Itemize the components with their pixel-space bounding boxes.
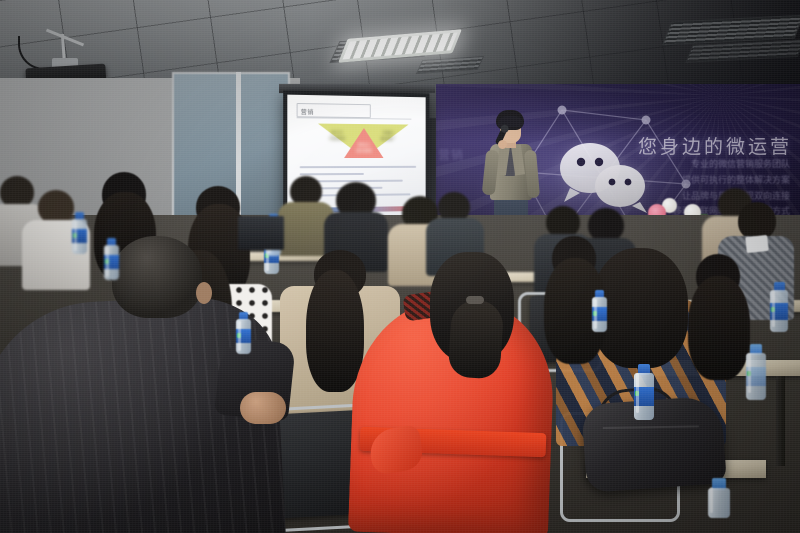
bottled-water	[634, 364, 654, 420]
presenter-hand	[498, 140, 507, 149]
desk-leg	[776, 376, 785, 466]
bottled-water	[104, 238, 119, 280]
slide-title: 营销	[301, 107, 314, 116]
triangle-label-right: 传播力 渠道推广	[376, 130, 401, 142]
hair-tie	[466, 296, 484, 304]
audience-member-head	[112, 236, 202, 318]
bottled-water	[72, 212, 87, 254]
triangle-label-left: 吸引力 内容策划	[324, 130, 350, 142]
slide-title-box: 营销	[297, 103, 371, 118]
bottled-water	[708, 478, 730, 518]
ponytail	[447, 298, 504, 379]
bottled-water	[746, 344, 766, 400]
handbag-seam	[603, 425, 699, 429]
bottled-water	[592, 290, 607, 332]
seminar-room-photo: 营销 您身边的微运营 专业的微信营销服务团队 提供可执行的整体解决方案 让品牌与…	[0, 0, 800, 533]
triangle-label-center: 转化力 成交变现	[351, 142, 377, 154]
slide-title-underline	[297, 117, 412, 119]
bottled-water	[236, 312, 251, 354]
computer-monitor	[238, 216, 284, 250]
leather-handbag	[581, 395, 727, 493]
bottled-water	[770, 282, 788, 332]
slide-triangle-diagram: 吸引力 内容策划 传播力 渠道推广 转化力 成交变现	[318, 124, 409, 160]
audience-member-hand	[240, 392, 286, 424]
audience-member-ear	[196, 282, 212, 304]
